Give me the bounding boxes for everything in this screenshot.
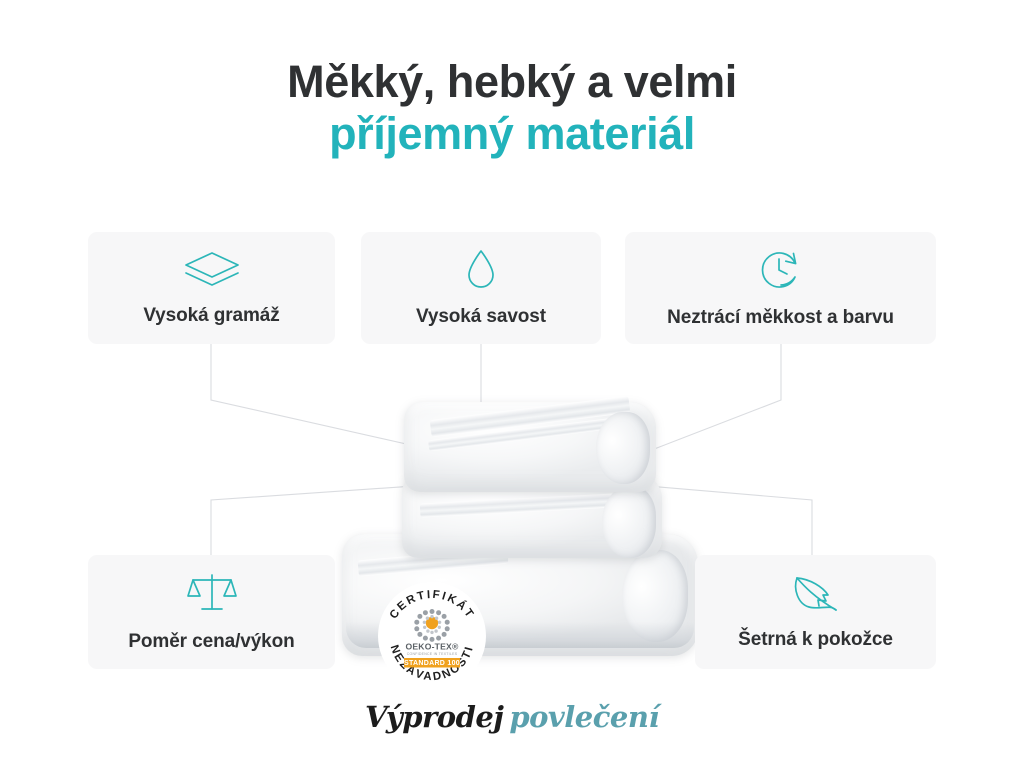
badge-standard-text: STANDARD 100 <box>404 660 460 667</box>
brand-logo-part-2: povlečení <box>509 700 659 734</box>
certification-badge: CERTIFIKÁT NEZÁVADNOSTI <box>378 582 486 690</box>
feature-card-setrna-k-pokozce[interactable]: Šetrná k pokožce <box>695 555 936 669</box>
feature-card-pomer-cena-vykon[interactable]: Poměr cena/výkon <box>88 555 335 669</box>
title-line-primary: Měkký, hebký a velmi <box>0 56 1024 108</box>
feather-leaf-icon <box>790 573 842 615</box>
towel-rolled-edge <box>596 412 650 484</box>
badge-subtitle-text: CONFIDENCE IN TEXTILES <box>407 652 458 656</box>
brand-logo-part-1: Výprodej <box>365 700 503 734</box>
feature-card-label: Poměr cena/výkon <box>128 631 294 653</box>
balance-scale-icon <box>187 571 237 617</box>
feature-card-neztraci-mekkost[interactable]: Neztrácí měkkost a barvu <box>625 232 936 344</box>
towel-rolled-edge <box>622 550 688 642</box>
towel-rolled-edge <box>602 486 656 558</box>
clock-rotate-icon <box>757 247 805 293</box>
layers-icon <box>181 249 243 291</box>
feature-card-vysoka-savost[interactable]: Vysoká savost <box>361 232 601 344</box>
feature-card-label: Šetrná k pokožce <box>738 629 893 651</box>
feature-card-vysoka-gramaz[interactable]: Vysoká gramáž <box>88 232 335 344</box>
feature-card-label: Vysoká gramáž <box>143 305 279 327</box>
badge-brand-text: OEKO-TEX® <box>405 642 458 652</box>
page-title: Měkký, hebký a velmi příjemný materiál <box>0 56 1024 160</box>
feature-card-label: Neztrácí měkkost a barvu <box>667 307 894 329</box>
water-droplet-icon <box>464 248 498 292</box>
title-line-accent: příjemný materiál <box>0 108 1024 160</box>
feature-card-label: Vysoká savost <box>416 306 546 328</box>
towel-top <box>404 402 656 492</box>
infographic-canvas: Měkký, hebký a velmi příjemný materiál <box>0 0 1024 768</box>
brand-logo: Výprodejpovlečení <box>0 700 1024 734</box>
